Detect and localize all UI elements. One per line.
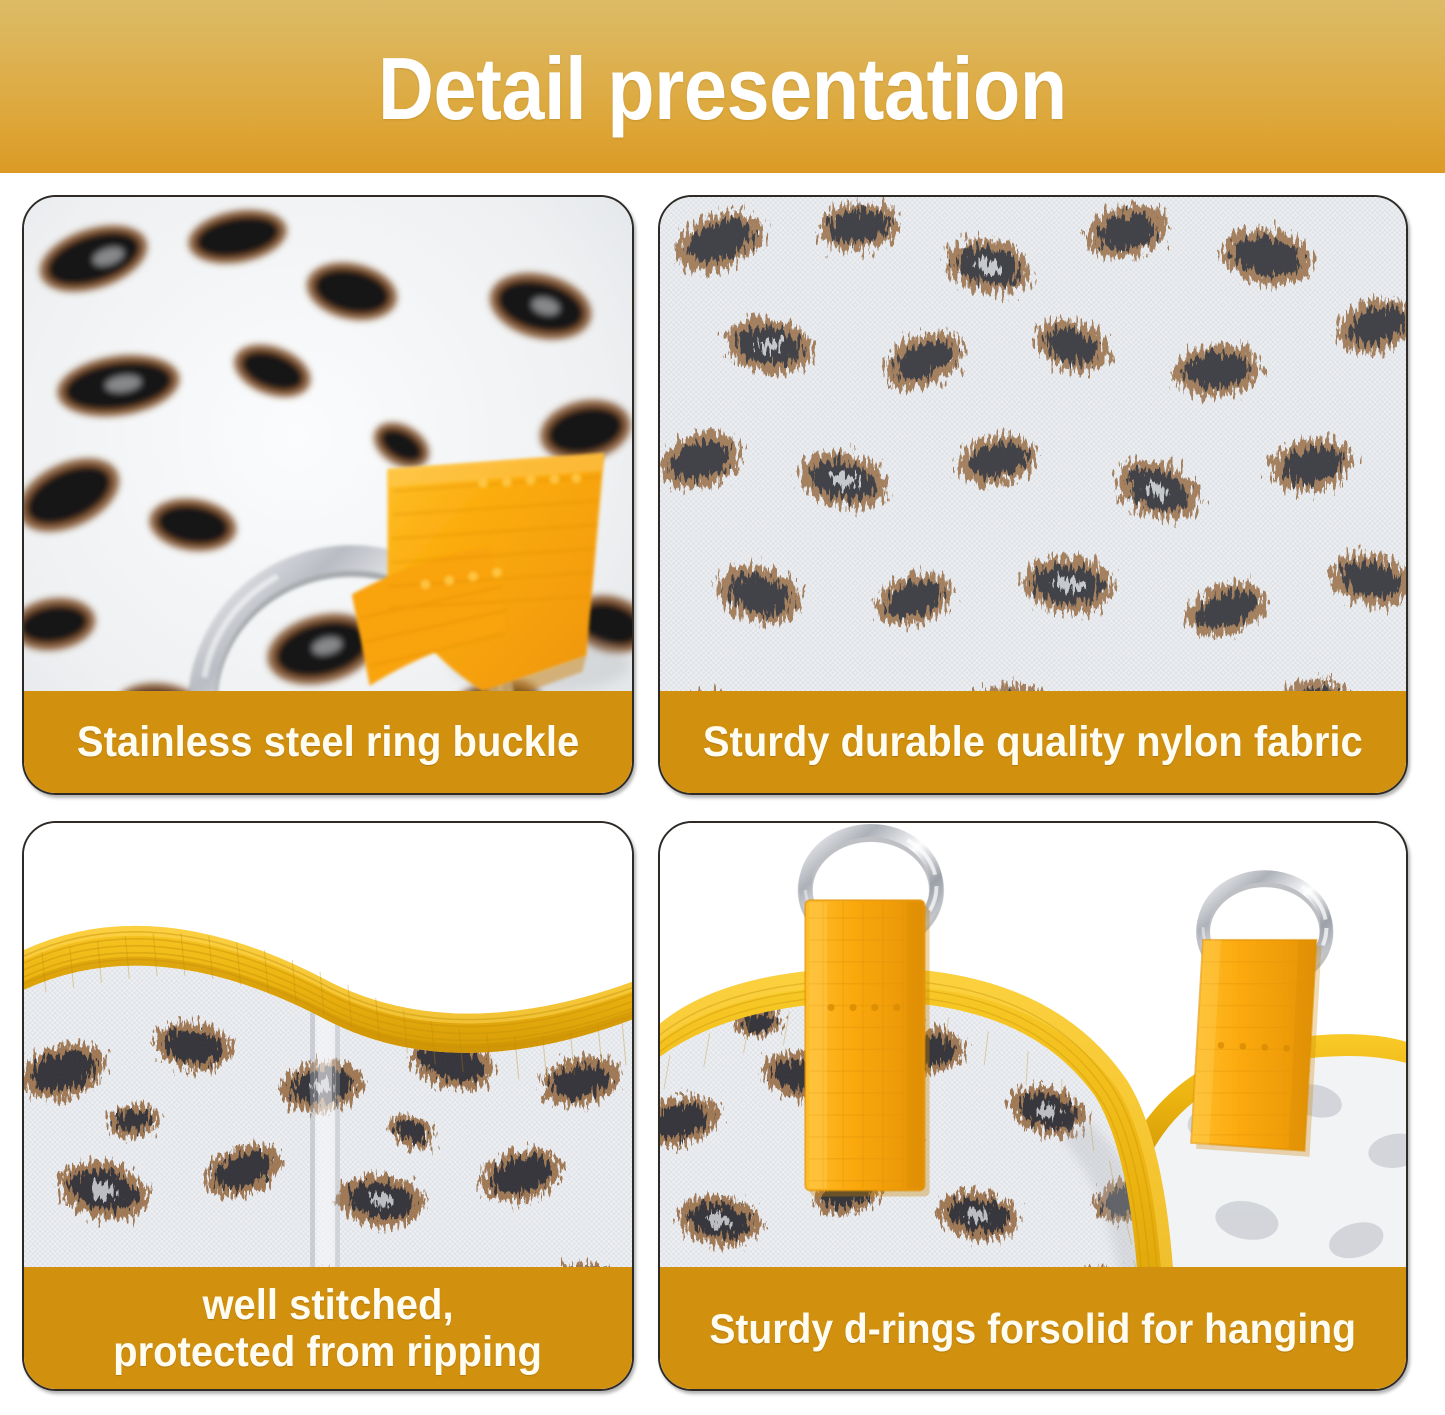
caption-line: well stitched, bbox=[202, 1282, 453, 1329]
caption-line: protected from ripping bbox=[114, 1329, 543, 1376]
panel-grid: Stainless steel ring buckle bbox=[0, 173, 1445, 1415]
panel-nylon-fabric[interactable]: Sturdy durable quality nylon fabric bbox=[658, 195, 1408, 795]
caption-line: Sturdy durable quality nylon fabric bbox=[703, 719, 1363, 766]
panel-stitching[interactable]: well stitched, protected from ripping bbox=[22, 821, 634, 1391]
caption-nylon-fabric: Sturdy durable quality nylon fabric bbox=[658, 691, 1408, 795]
caption-d-rings: Sturdy d-rings forsolid for hanging bbox=[658, 1267, 1408, 1391]
panel-ring-buckle[interactable]: Stainless steel ring buckle bbox=[22, 195, 634, 795]
panel-d-rings[interactable]: Sturdy d-rings forsolid for hanging bbox=[658, 821, 1408, 1391]
caption-ring-buckle: Stainless steel ring buckle bbox=[22, 691, 634, 795]
caption-stitching: well stitched, protected from ripping bbox=[22, 1267, 634, 1391]
infographic-page: Detail presentation bbox=[0, 0, 1445, 1415]
header-banner: Detail presentation bbox=[0, 0, 1445, 173]
page-title: Detail presentation bbox=[378, 45, 1067, 133]
caption-line: Stainless steel ring buckle bbox=[77, 719, 579, 766]
caption-line: Sturdy d-rings forsolid for hanging bbox=[710, 1306, 1357, 1352]
